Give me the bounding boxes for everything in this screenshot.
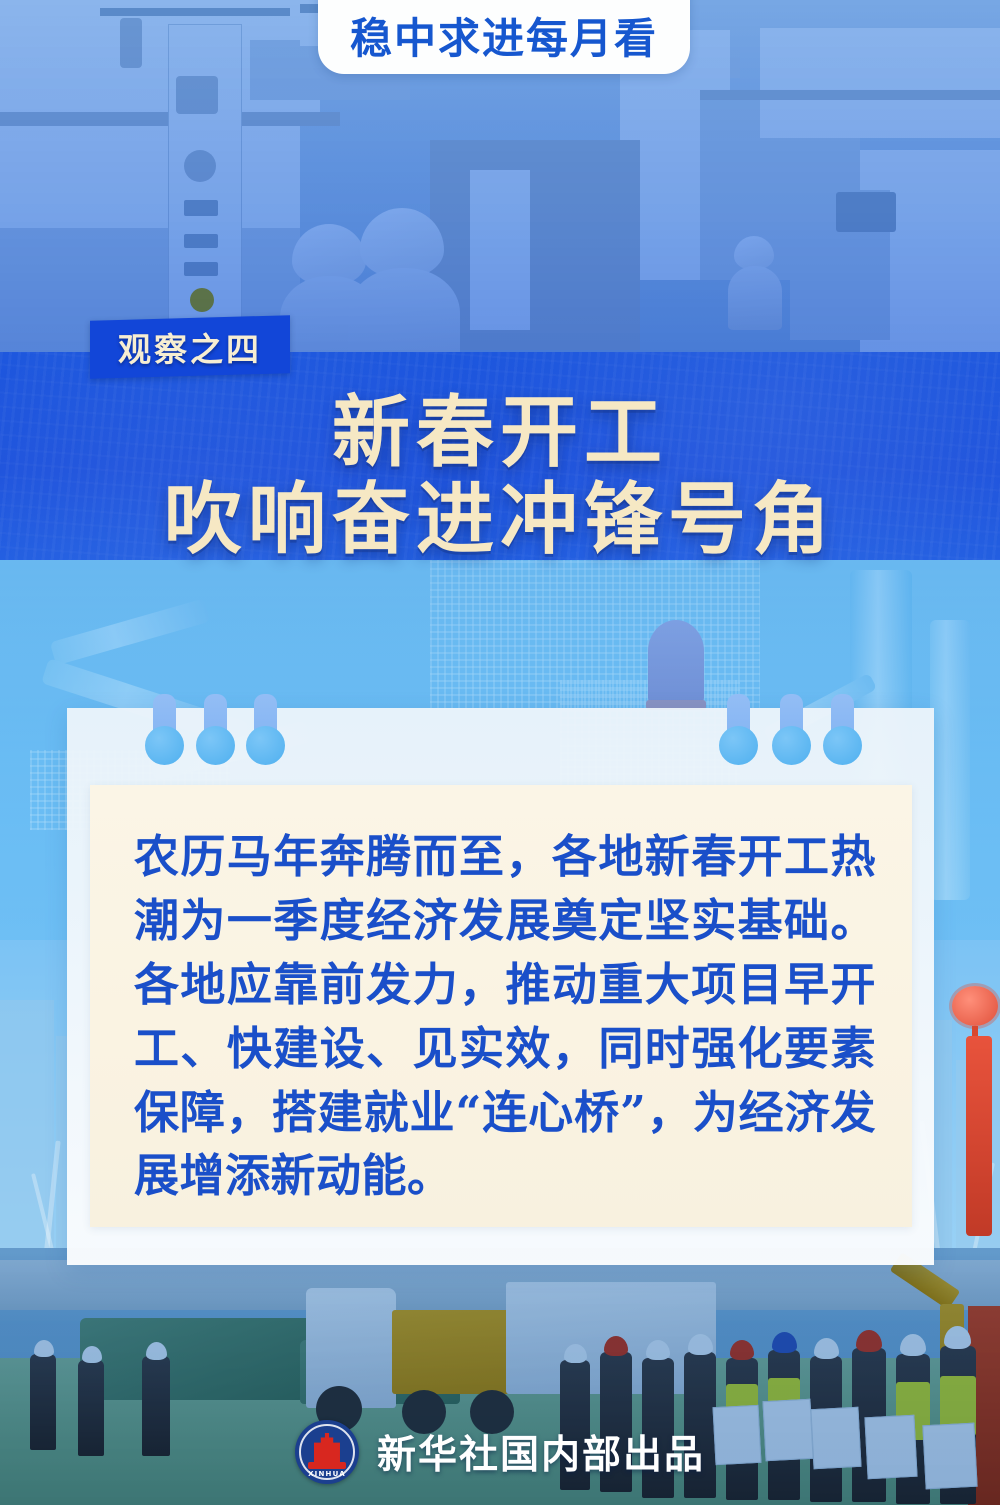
series-badge-label: 观察之四 — [118, 323, 262, 371]
poster-root: 稳中求进每月看 观察之四 新春开工 吹响奋进冲锋号角 农历马年奔腾而至，各地新春… — [0, 0, 1000, 1505]
footer-label: 新华社国内部出品 — [377, 1424, 705, 1480]
headline-band — [0, 352, 1000, 590]
pin-icon — [727, 694, 750, 765]
xinhua-logo-icon: XINHUA — [295, 1420, 359, 1484]
pin-icon — [254, 694, 277, 765]
pin-icon — [780, 694, 803, 765]
xinhua-logo-wordmark: XINHUA — [295, 1470, 359, 1478]
footer: XINHUA 新华社国内部出品 — [0, 1412, 1000, 1492]
top-banner-pill[interactable]: 稳中求进每月看 — [318, 0, 690, 74]
top-banner-label: 稳中求进每月看 — [350, 18, 658, 60]
pin-icon — [831, 694, 854, 765]
series-badge[interactable]: 观察之四 — [90, 315, 290, 379]
pin-icon — [153, 694, 176, 765]
body-paragraph: 农历马年奔腾而至，各地新春开工热潮为一季度经济发展奠定坚实基础。各地应靠前发力，… — [134, 825, 876, 1208]
body-card-inner: 农历马年奔腾而至，各地新春开工热潮为一季度经济发展奠定坚实基础。各地应靠前发力，… — [90, 785, 912, 1227]
pin-icon — [204, 694, 227, 765]
